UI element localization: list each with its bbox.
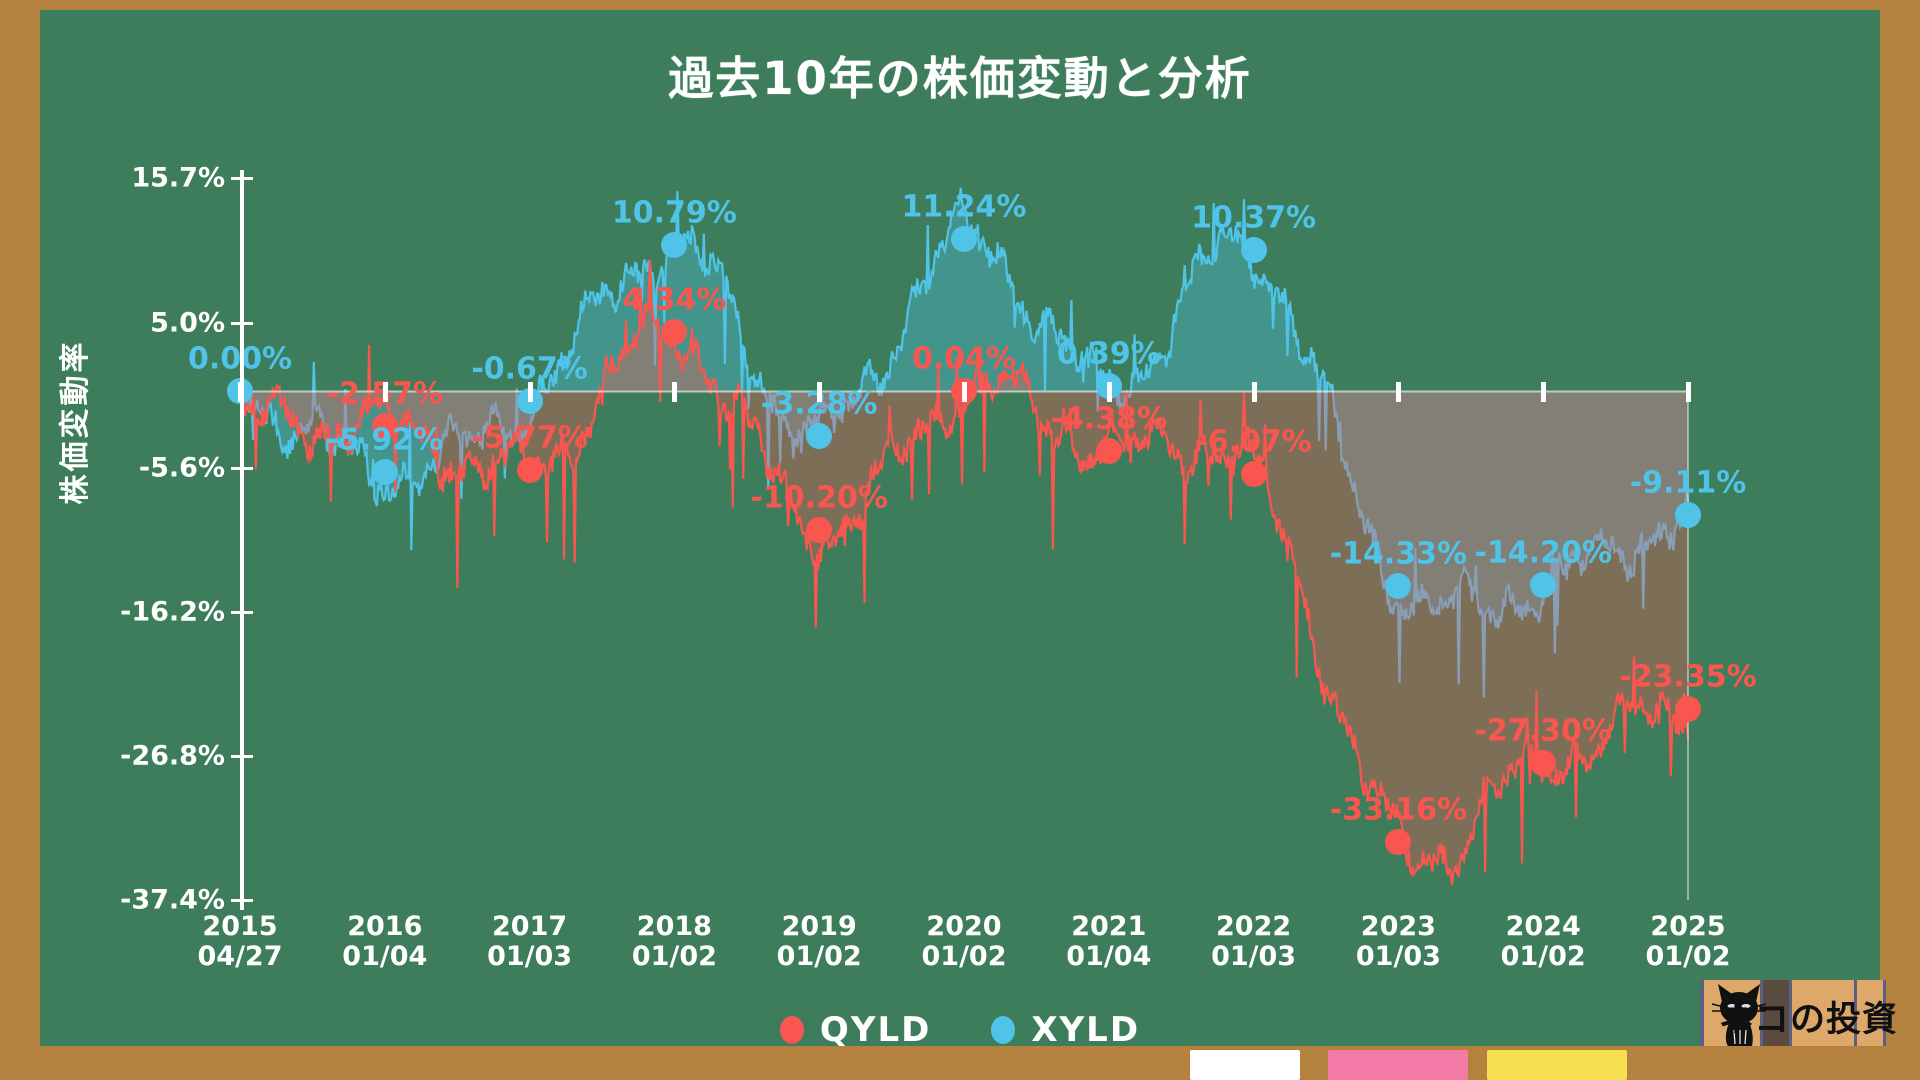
x-tick-year: 2023 xyxy=(1356,912,1441,942)
page-title: 過去10年の株価変動と分析 xyxy=(0,42,1920,107)
x-tick-year: 2021 xyxy=(1066,912,1151,942)
y-axis-tick-mark xyxy=(231,177,253,180)
data-point-qyld[interactable] xyxy=(517,457,543,483)
x-axis-tick-mark xyxy=(1541,382,1546,402)
data-point-xyld[interactable] xyxy=(1530,572,1556,598)
x-axis-tick-mark xyxy=(672,382,677,402)
data-label-qyld: -4.38% xyxy=(1051,402,1168,437)
y-axis-tick-mark xyxy=(231,467,253,470)
x-tick-year: 2015 xyxy=(197,912,282,942)
x-axis-tick-mark xyxy=(1396,382,1401,402)
brand-name: ネコの投資 xyxy=(1719,991,1898,1042)
y-axis-tick-label: 5.0% xyxy=(150,308,225,339)
data-point-qyld[interactable] xyxy=(1241,461,1267,487)
x-axis-tick-mark xyxy=(528,382,533,402)
x-axis-tick-label: 202001/02 xyxy=(921,912,1006,972)
data-label-qyld: 0.04% xyxy=(912,341,1016,376)
x-tick-year: 2022 xyxy=(1211,912,1296,942)
chalkboard-ledge xyxy=(0,1046,1920,1080)
data-label-xyld: -9.11% xyxy=(1630,466,1747,501)
x-tick-date: 04/27 xyxy=(197,942,282,972)
x-axis-tick-label: 202301/03 xyxy=(1356,912,1441,972)
x-axis-tick-label: 202201/03 xyxy=(1211,912,1296,972)
data-label-xyld: 11.24% xyxy=(902,189,1027,224)
data-label-qyld: -27.30% xyxy=(1474,713,1611,748)
x-tick-date: 01/02 xyxy=(921,942,1006,972)
data-label-xyld: -5.92% xyxy=(327,422,444,457)
data-point-qyld[interactable] xyxy=(1096,438,1122,464)
x-tick-date: 01/02 xyxy=(1501,942,1586,972)
data-point-qyld[interactable] xyxy=(1530,750,1556,776)
data-point-qyld[interactable] xyxy=(806,517,832,543)
data-label-xyld: 10.37% xyxy=(1191,201,1316,236)
data-label-qyld: 4.34% xyxy=(622,283,726,318)
x-axis-tick-label: 201601/04 xyxy=(342,912,427,972)
y-axis-tick-label: -5.6% xyxy=(139,452,225,483)
x-tick-year: 2017 xyxy=(487,912,572,942)
x-tick-date: 01/03 xyxy=(1211,942,1296,972)
y-axis-tick-mark xyxy=(231,755,253,758)
chalk-yellow xyxy=(1487,1050,1627,1080)
x-tick-date: 01/03 xyxy=(487,942,572,972)
data-label-xyld: -14.33% xyxy=(1330,537,1467,572)
data-label-xyld: 10.79% xyxy=(612,195,737,230)
y-axis-tick-mark xyxy=(231,899,253,902)
x-axis-tick-mark xyxy=(1107,382,1112,402)
x-tick-year: 2019 xyxy=(777,912,862,942)
x-axis-tick-mark xyxy=(1686,382,1691,402)
x-axis-tick-label: 201801/02 xyxy=(632,912,717,972)
brand-logo: ネコの投資 xyxy=(1680,980,1920,1080)
data-point-xyld[interactable] xyxy=(372,459,398,485)
x-tick-date: 01/02 xyxy=(632,942,717,972)
data-label-xyld: 0.39% xyxy=(1057,337,1161,372)
data-point-xyld[interactable] xyxy=(806,423,832,449)
data-point-qyld[interactable] xyxy=(661,319,687,345)
x-axis-tick-mark xyxy=(1252,382,1257,402)
x-axis-tick-mark xyxy=(238,382,243,402)
x-axis-tick-mark xyxy=(383,382,388,402)
data-point-qyld[interactable] xyxy=(1385,829,1411,855)
x-axis-tick-mark xyxy=(817,382,822,402)
x-tick-year: 2025 xyxy=(1645,912,1730,942)
data-label-xyld: -0.67% xyxy=(471,351,588,386)
data-label-qyld: -33.16% xyxy=(1330,793,1467,828)
data-label-qyld: -23.35% xyxy=(1619,659,1756,694)
chalk-white xyxy=(1190,1050,1300,1080)
x-axis-tick-label: 202101/04 xyxy=(1066,912,1151,972)
x-tick-year: 2020 xyxy=(921,912,1006,942)
x-tick-date: 01/02 xyxy=(777,942,862,972)
y-axis-tick-mark xyxy=(231,611,253,614)
x-tick-date: 01/03 xyxy=(1356,942,1441,972)
x-axis-tick-label: 202401/02 xyxy=(1501,912,1586,972)
data-point-xyld[interactable] xyxy=(1241,237,1267,263)
x-axis-tick-label: 201504/27 xyxy=(197,912,282,972)
data-point-xyld[interactable] xyxy=(1385,573,1411,599)
data-label-xyld: -14.20% xyxy=(1474,535,1611,570)
x-axis-tick-label: 202501/02 xyxy=(1645,912,1730,972)
data-label-qyld: -6.07% xyxy=(1195,425,1312,460)
data-label-qyld: -5.77% xyxy=(471,420,588,455)
data-point-qyld[interactable] xyxy=(1675,696,1701,722)
x-axis-tick-label: 201701/03 xyxy=(487,912,572,972)
data-point-xyld[interactable] xyxy=(661,232,687,258)
x-tick-date: 01/02 xyxy=(1645,942,1730,972)
x-tick-date: 01/04 xyxy=(1066,942,1151,972)
data-point-xyld[interactable] xyxy=(1675,502,1701,528)
chalk-pink xyxy=(1328,1050,1468,1080)
y-axis-tick-mark xyxy=(231,322,253,325)
x-axis-tick-label: 201901/02 xyxy=(777,912,862,972)
y-axis-tick-label: -16.2% xyxy=(120,596,225,627)
y-axis-tick-label: -26.8% xyxy=(120,740,225,771)
x-tick-year: 2018 xyxy=(632,912,717,942)
y-axis-tick-label: 15.7% xyxy=(131,163,225,194)
x-tick-date: 01/04 xyxy=(342,942,427,972)
data-point-xyld[interactable] xyxy=(951,226,977,252)
x-tick-year: 2016 xyxy=(342,912,427,942)
x-axis-tick-mark xyxy=(962,382,967,402)
y-axis-ticks: 15.7%5.0%-5.6%-16.2%-26.8%-37.4% xyxy=(0,0,225,1080)
y-axis-line xyxy=(240,170,244,910)
x-tick-year: 2024 xyxy=(1501,912,1586,942)
data-label-qyld: -10.20% xyxy=(750,481,887,516)
